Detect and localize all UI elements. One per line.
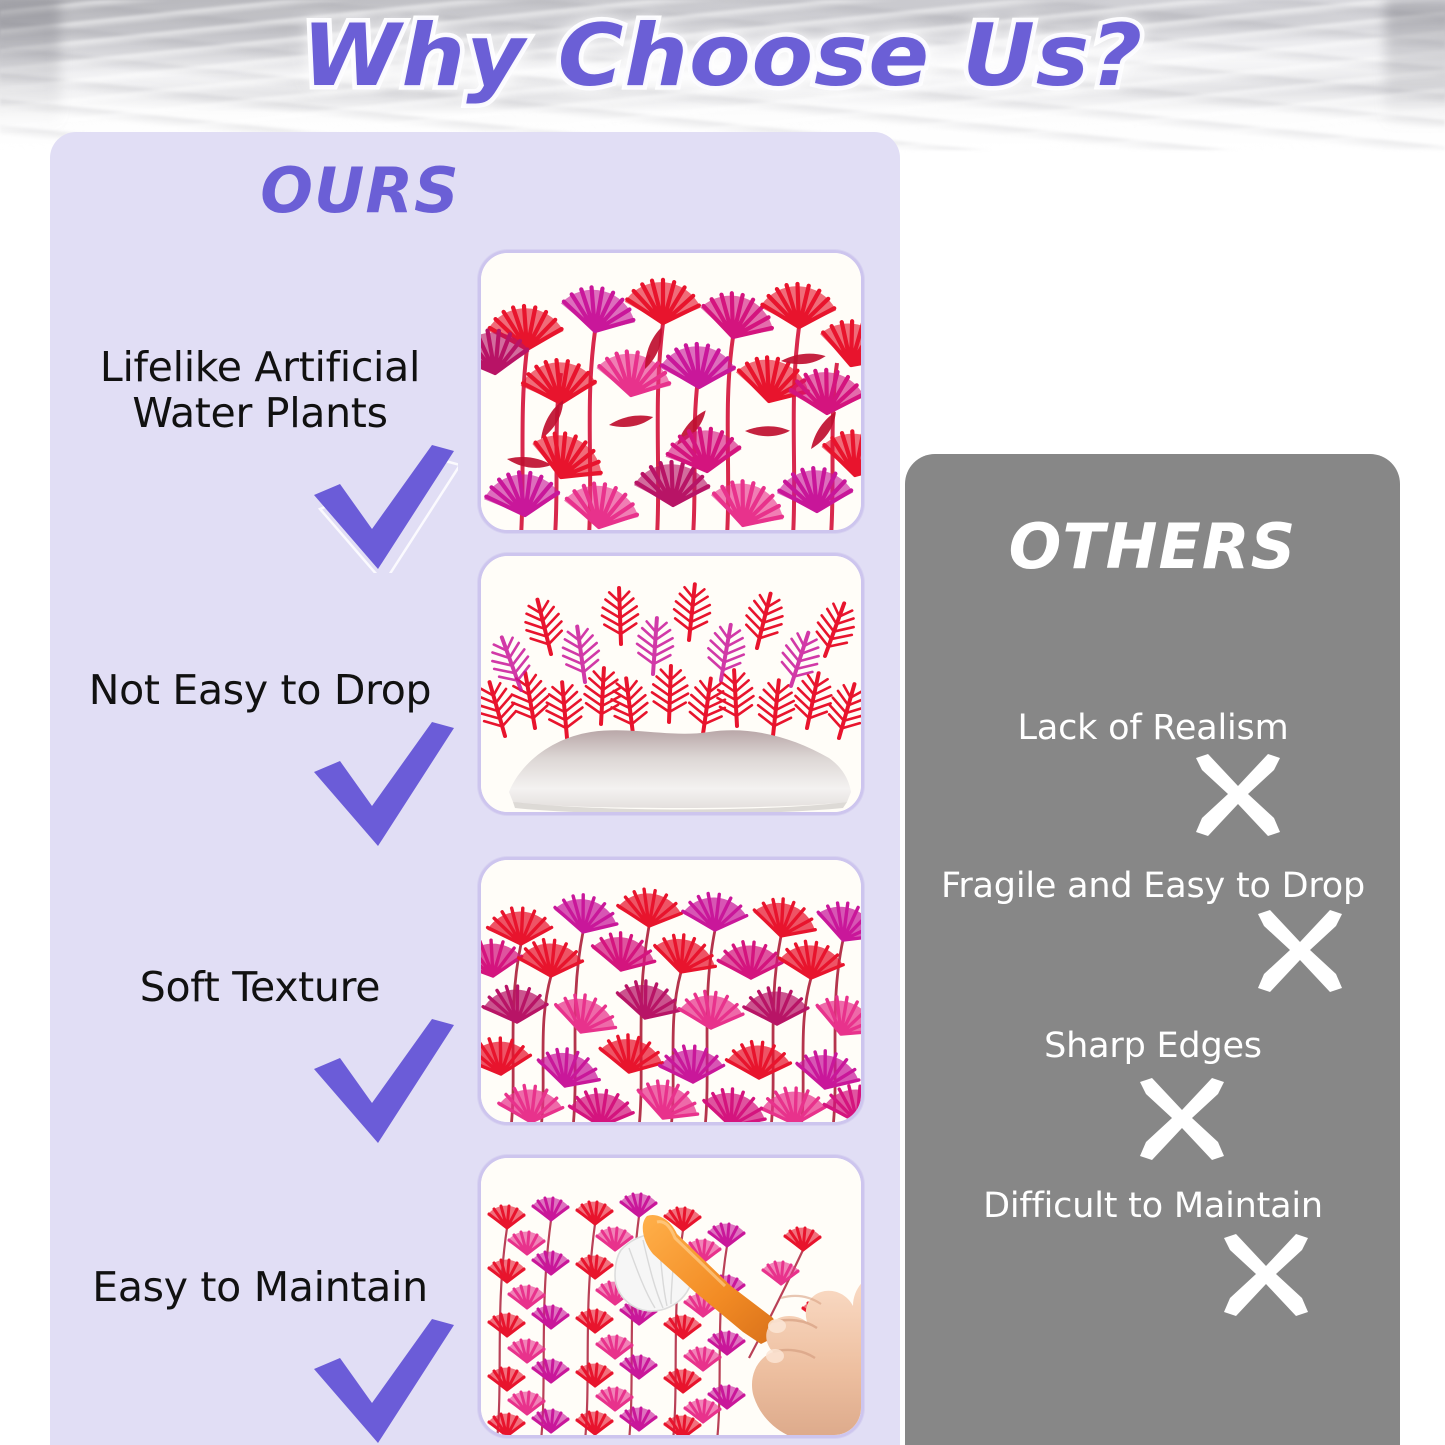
page-title: Why Choose Us? (302, 6, 1143, 106)
ours-feature-0: Lifelike Artificial Water Plants (60, 345, 460, 575)
check-holder-1 (60, 720, 460, 852)
ours-photo-1 (478, 553, 864, 815)
plants-base-illustration (481, 556, 864, 815)
plants-illustration-0 (481, 253, 864, 533)
plants-illustration-2 (481, 860, 864, 1125)
others-feature-label-1: Fragile and Easy to Drop (918, 866, 1388, 906)
others-feature-label-0: Lack of Realism (918, 708, 1388, 748)
others-feature-1: Fragile and Easy to Drop (918, 866, 1388, 992)
cross-holder-3 (918, 1226, 1388, 1312)
check-icon (308, 1317, 458, 1445)
page-title-container: Why Choose Us? (0, 6, 1445, 106)
ours-feature-label-1: Not Easy to Drop (60, 668, 460, 714)
others-feature-2: Sharp Edges (918, 1026, 1388, 1152)
others-feature-3: Difficult to Maintain (918, 1186, 1388, 1312)
check-holder-3 (60, 1317, 460, 1445)
others-feature-label-3: Difficult to Maintain (918, 1186, 1388, 1226)
infographic-stage: Why Choose Us? OURS OTHERS Lifelike Arti… (0, 0, 1445, 1445)
others-feature-0: Lack of Realism (918, 708, 1388, 834)
cross-holder-2 (918, 1066, 1388, 1152)
check-icon (308, 720, 458, 850)
ours-feature-3: Easy to Maintain (60, 1265, 460, 1445)
ours-photo-2 (478, 857, 864, 1125)
ours-photo-0 (478, 250, 864, 533)
plant-base (509, 730, 851, 808)
ours-heading: OURS (50, 154, 670, 227)
check-icon (308, 443, 458, 573)
ours-feature-2: Soft Texture (60, 965, 460, 1149)
cross-icon (1186, 754, 1282, 836)
check-holder-2 (60, 1017, 460, 1149)
cleaning-illustration (481, 1158, 864, 1438)
check-icon (308, 1017, 458, 1147)
ours-feature-label-0: Lifelike Artificial Water Plants (60, 345, 460, 437)
cross-icon (1248, 910, 1344, 992)
cross-icon (1214, 1234, 1310, 1316)
cross-holder-1 (918, 906, 1388, 992)
ours-feature-1: Not Easy to Drop (60, 668, 460, 852)
others-feature-label-2: Sharp Edges (918, 1026, 1388, 1066)
others-heading: OTHERS (905, 510, 1400, 583)
ours-feature-label-2: Soft Texture (60, 965, 460, 1011)
ours-feature-label-3: Easy to Maintain (60, 1265, 460, 1311)
cross-holder-0 (918, 748, 1388, 834)
cross-icon (1130, 1078, 1226, 1160)
check-holder-0 (60, 443, 460, 575)
ours-photo-3 (478, 1155, 864, 1438)
